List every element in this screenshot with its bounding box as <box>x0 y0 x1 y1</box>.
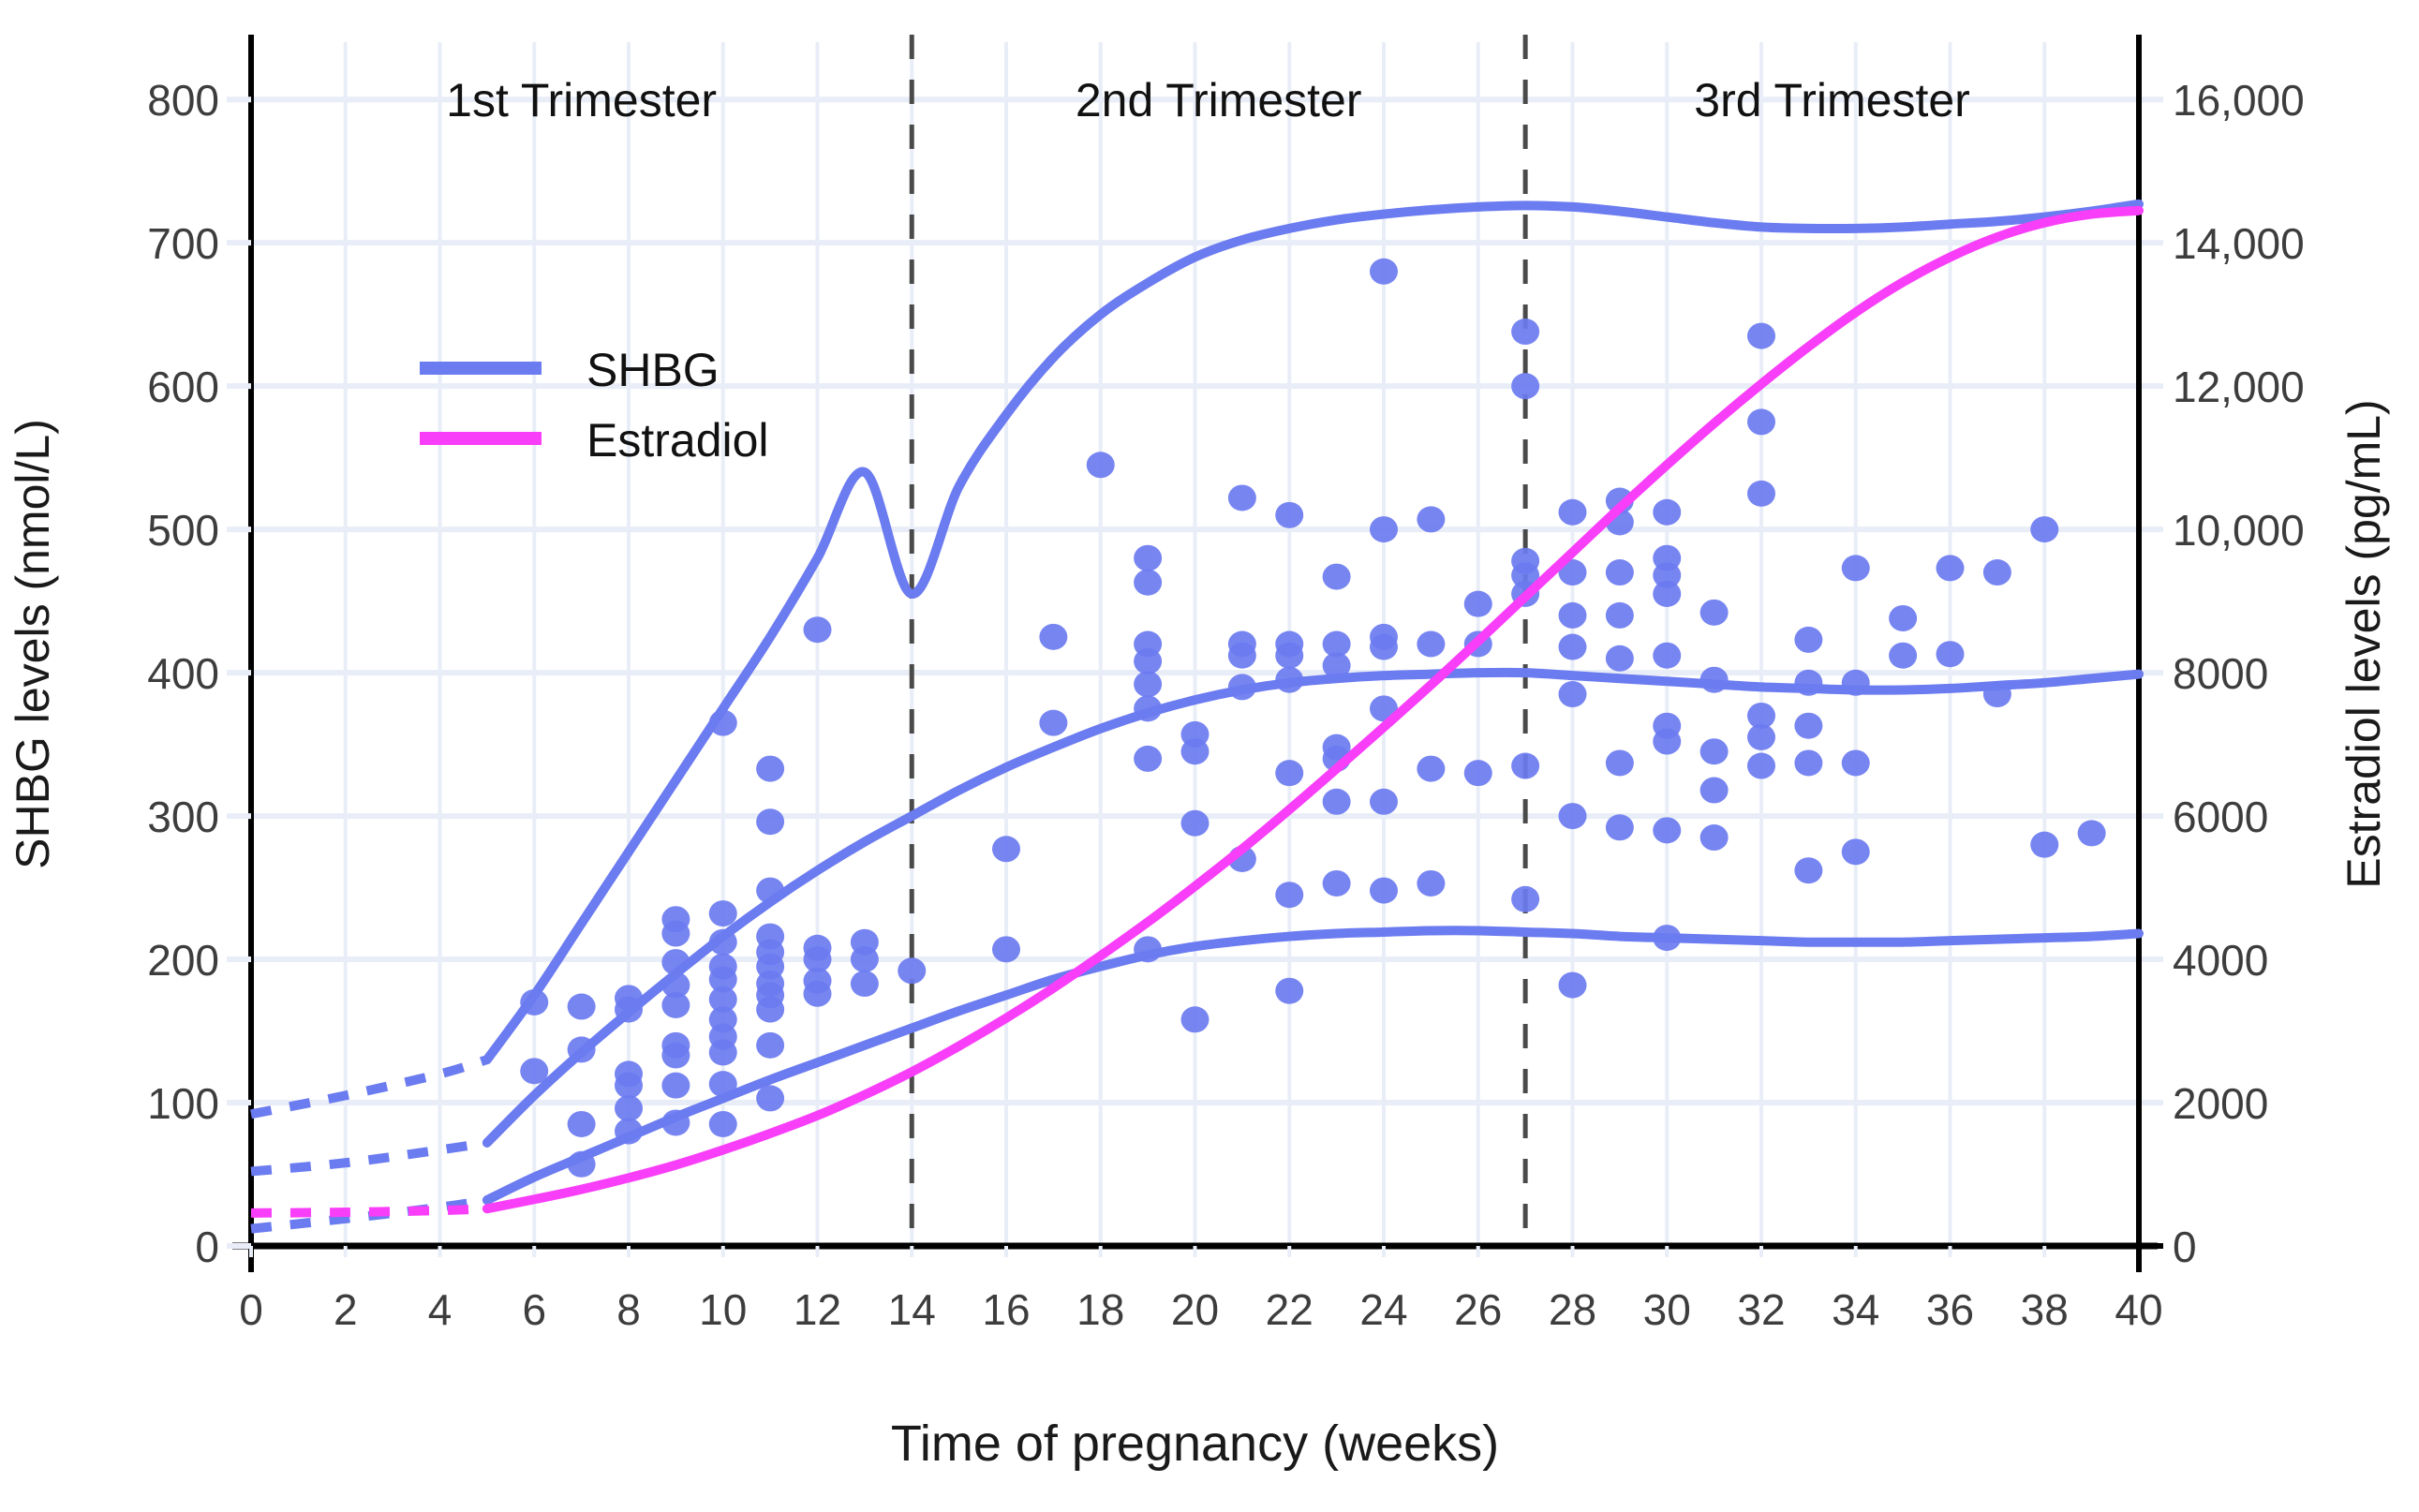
x-axis-title: Time of pregnancy (weeks) <box>891 1416 1499 1472</box>
y-tick-label: 300 <box>147 793 219 841</box>
y2-tick-label: 12,000 <box>2173 363 2305 411</box>
scatter-point <box>1606 602 1634 629</box>
scatter-point <box>709 1039 737 1065</box>
scatter-point <box>1134 545 1162 571</box>
scatter-point <box>1842 838 1870 865</box>
scatter-point <box>1417 631 1445 658</box>
y-tick-label: 500 <box>147 506 219 555</box>
x-tick-label: 22 <box>1266 1285 1313 1334</box>
y-tick-label: 800 <box>147 76 219 125</box>
scatter-point <box>1134 648 1162 674</box>
scatter-point <box>1417 870 1445 897</box>
y2-tick-label: 16,000 <box>2173 76 2305 125</box>
x-tick-label: 2 <box>334 1285 358 1334</box>
scatter-point <box>1700 738 1729 764</box>
scatter-point <box>1181 738 1209 764</box>
scatter-point <box>1275 502 1303 528</box>
y-tick-label: 200 <box>147 936 219 985</box>
scatter-point <box>1181 810 1209 837</box>
scatter-point <box>756 997 784 1023</box>
y-tick-label: 0 <box>195 1223 219 1271</box>
scatter-point <box>804 616 832 643</box>
scatter-points <box>520 259 2105 1178</box>
scatter-point <box>1747 724 1775 750</box>
y2-tick-label: 14,000 <box>2173 219 2305 268</box>
scatter-point <box>1039 624 1067 650</box>
x-tick-label: 12 <box>794 1285 841 1334</box>
y2-tick-label: 0 <box>2173 1223 2197 1271</box>
x-tick-label: 10 <box>699 1285 747 1334</box>
scatter-point <box>1181 1006 1209 1032</box>
scatter-point <box>1228 643 1256 669</box>
scatter-point <box>1559 634 1587 660</box>
scatter-point <box>1511 319 1539 345</box>
scatter-point <box>756 808 784 835</box>
scatter-point <box>851 971 879 997</box>
x-tick-label: 20 <box>1171 1285 1219 1334</box>
scatter-point <box>1559 803 1587 829</box>
scatter-point <box>1370 516 1398 542</box>
x-tick-label: 32 <box>1737 1285 1785 1334</box>
scatter-point <box>1275 882 1303 908</box>
scatter-point <box>1417 756 1445 782</box>
y-axis-title: SHBG levels (nmol/L) <box>7 419 59 869</box>
scatter-point <box>1889 605 1917 631</box>
scatter-point <box>1559 499 1587 526</box>
scatter-point <box>568 1111 596 1137</box>
y-tick-label: 700 <box>147 219 219 268</box>
scatter-point <box>1889 643 1917 669</box>
scatter-point <box>1747 753 1775 779</box>
chart-svg: 0246810121416182022242628303234363840010… <box>0 0 2419 1512</box>
legend: SHBGEstradiol <box>420 344 769 467</box>
scatter-point <box>1700 778 1729 804</box>
x-tick-label: 38 <box>2021 1285 2069 1334</box>
x-tick-label: 28 <box>1549 1285 1596 1334</box>
scatter-point <box>1606 559 1634 586</box>
trimester-annotation: 2nd Trimester <box>1076 74 1362 126</box>
trimester-annotation: 1st Trimester <box>446 74 717 126</box>
scatter-point <box>1228 484 1256 511</box>
scatter-point <box>615 1073 643 1099</box>
legend-label: Estradiol <box>586 414 769 467</box>
scatter-point <box>1747 481 1775 507</box>
scatter-point <box>1275 760 1303 786</box>
scatter-point <box>1370 259 1398 285</box>
scatter-point <box>1842 749 1870 776</box>
scatter-point <box>1653 581 1681 607</box>
x-tick-label: 40 <box>2115 1285 2162 1334</box>
scatter-point <box>804 981 832 1007</box>
scatter-point <box>1323 870 1351 897</box>
scatter-point <box>1559 972 1587 999</box>
scatter-point <box>1559 681 1587 707</box>
scatter-point <box>1794 713 1822 739</box>
y2-tick-label: 4000 <box>2173 936 2268 985</box>
scatter-point <box>756 1085 784 1111</box>
scatter-point <box>1370 789 1398 815</box>
x-tick-label: 4 <box>428 1285 453 1334</box>
scatter-point <box>1087 452 1115 478</box>
x-tick-label: 8 <box>616 1285 641 1334</box>
scatter-point <box>756 756 784 782</box>
y2-tick-label: 8000 <box>2173 649 2268 698</box>
scatter-point <box>1794 749 1822 776</box>
x-tick-label: 30 <box>1643 1285 1691 1334</box>
scatter-point <box>1653 643 1681 669</box>
scatter-point <box>1370 878 1398 904</box>
scatter-point <box>661 921 690 947</box>
x-tick-label: 34 <box>1832 1285 1879 1334</box>
scatter-point <box>1039 710 1067 736</box>
legend-label: SHBG <box>586 344 720 396</box>
scatter-point <box>709 900 737 926</box>
scatter-point <box>1700 600 1729 626</box>
scatter-point <box>1323 564 1351 590</box>
scatter-point <box>1275 643 1303 669</box>
scatter-point <box>1747 323 1775 349</box>
scatter-point <box>1606 814 1634 840</box>
scatter-point <box>2078 820 2106 846</box>
x-tick-label: 16 <box>982 1285 1030 1334</box>
series-line-extrapolated <box>251 1143 487 1172</box>
scatter-point <box>1323 789 1351 815</box>
series-line-extrapolated <box>251 1060 487 1114</box>
scatter-point <box>1794 857 1822 883</box>
scatter-point <box>992 936 1020 962</box>
x-tick-label: 0 <box>239 1285 263 1334</box>
scatter-point <box>1511 886 1539 912</box>
scatter-point <box>1511 753 1539 779</box>
scatter-point <box>1747 408 1775 435</box>
scatter-point <box>2030 516 2058 542</box>
scatter-point <box>568 994 596 1020</box>
scatter-point <box>1606 749 1634 776</box>
scatter-point <box>709 1111 737 1137</box>
chart-container: 0246810121416182022242628303234363840010… <box>0 0 2419 1512</box>
scatter-point <box>1464 760 1492 786</box>
scatter-point <box>1700 824 1729 851</box>
x-tick-label: 26 <box>1454 1285 1502 1334</box>
scatter-point <box>661 992 690 1018</box>
scatter-point <box>1794 627 1822 653</box>
scatter-point <box>898 957 926 984</box>
scatter-point <box>661 1043 690 1069</box>
scatter-point <box>1606 645 1634 672</box>
scatter-point <box>1464 591 1492 617</box>
annotations: 1st Trimester2nd Trimester3rd Trimester <box>446 74 1970 126</box>
scatter-point <box>1417 506 1445 532</box>
scatter-point <box>1275 978 1303 1004</box>
scatter-point <box>1653 817 1681 843</box>
x-tick-label: 18 <box>1076 1285 1124 1334</box>
y2-axis-title: Estradiol levels (pg/mL) <box>2337 399 2390 888</box>
scatter-point <box>1370 634 1398 660</box>
y2-tick-label: 2000 <box>2173 1079 2268 1128</box>
scatter-point <box>1559 602 1587 629</box>
scatter-point <box>1134 746 1162 772</box>
y-tick-label: 600 <box>147 363 219 411</box>
scatter-point <box>1983 559 2011 586</box>
scatter-point <box>992 836 1020 862</box>
scatter-point <box>1134 570 1162 596</box>
x-tick-label: 6 <box>522 1285 546 1334</box>
scatter-point <box>1511 373 1539 399</box>
y-tick-label: 100 <box>147 1079 219 1128</box>
scatter-point <box>661 1073 690 1099</box>
y-tick-label: 400 <box>147 649 219 698</box>
scatter-point <box>615 1095 643 1121</box>
scatter-point <box>1653 499 1681 526</box>
y2-tick-label: 6000 <box>2173 793 2268 841</box>
y2-tick-label: 10,000 <box>2173 506 2305 555</box>
x-tick-label: 24 <box>1359 1285 1407 1334</box>
trimester-annotation: 3rd Trimester <box>1694 74 1970 126</box>
scatter-point <box>756 1032 784 1059</box>
scatter-point <box>1134 671 1162 697</box>
scatter-point <box>2030 832 2058 858</box>
scatter-point <box>1653 729 1681 755</box>
scatter-point <box>1842 555 1870 581</box>
scatter-point <box>1937 641 1965 667</box>
tick-labels: 0246810121416182022242628303234363840010… <box>147 76 2304 1334</box>
scatter-point <box>1937 555 1965 581</box>
x-tick-label: 36 <box>1926 1285 1974 1334</box>
x-tick-label: 14 <box>888 1285 936 1334</box>
scatter-point <box>851 946 879 972</box>
